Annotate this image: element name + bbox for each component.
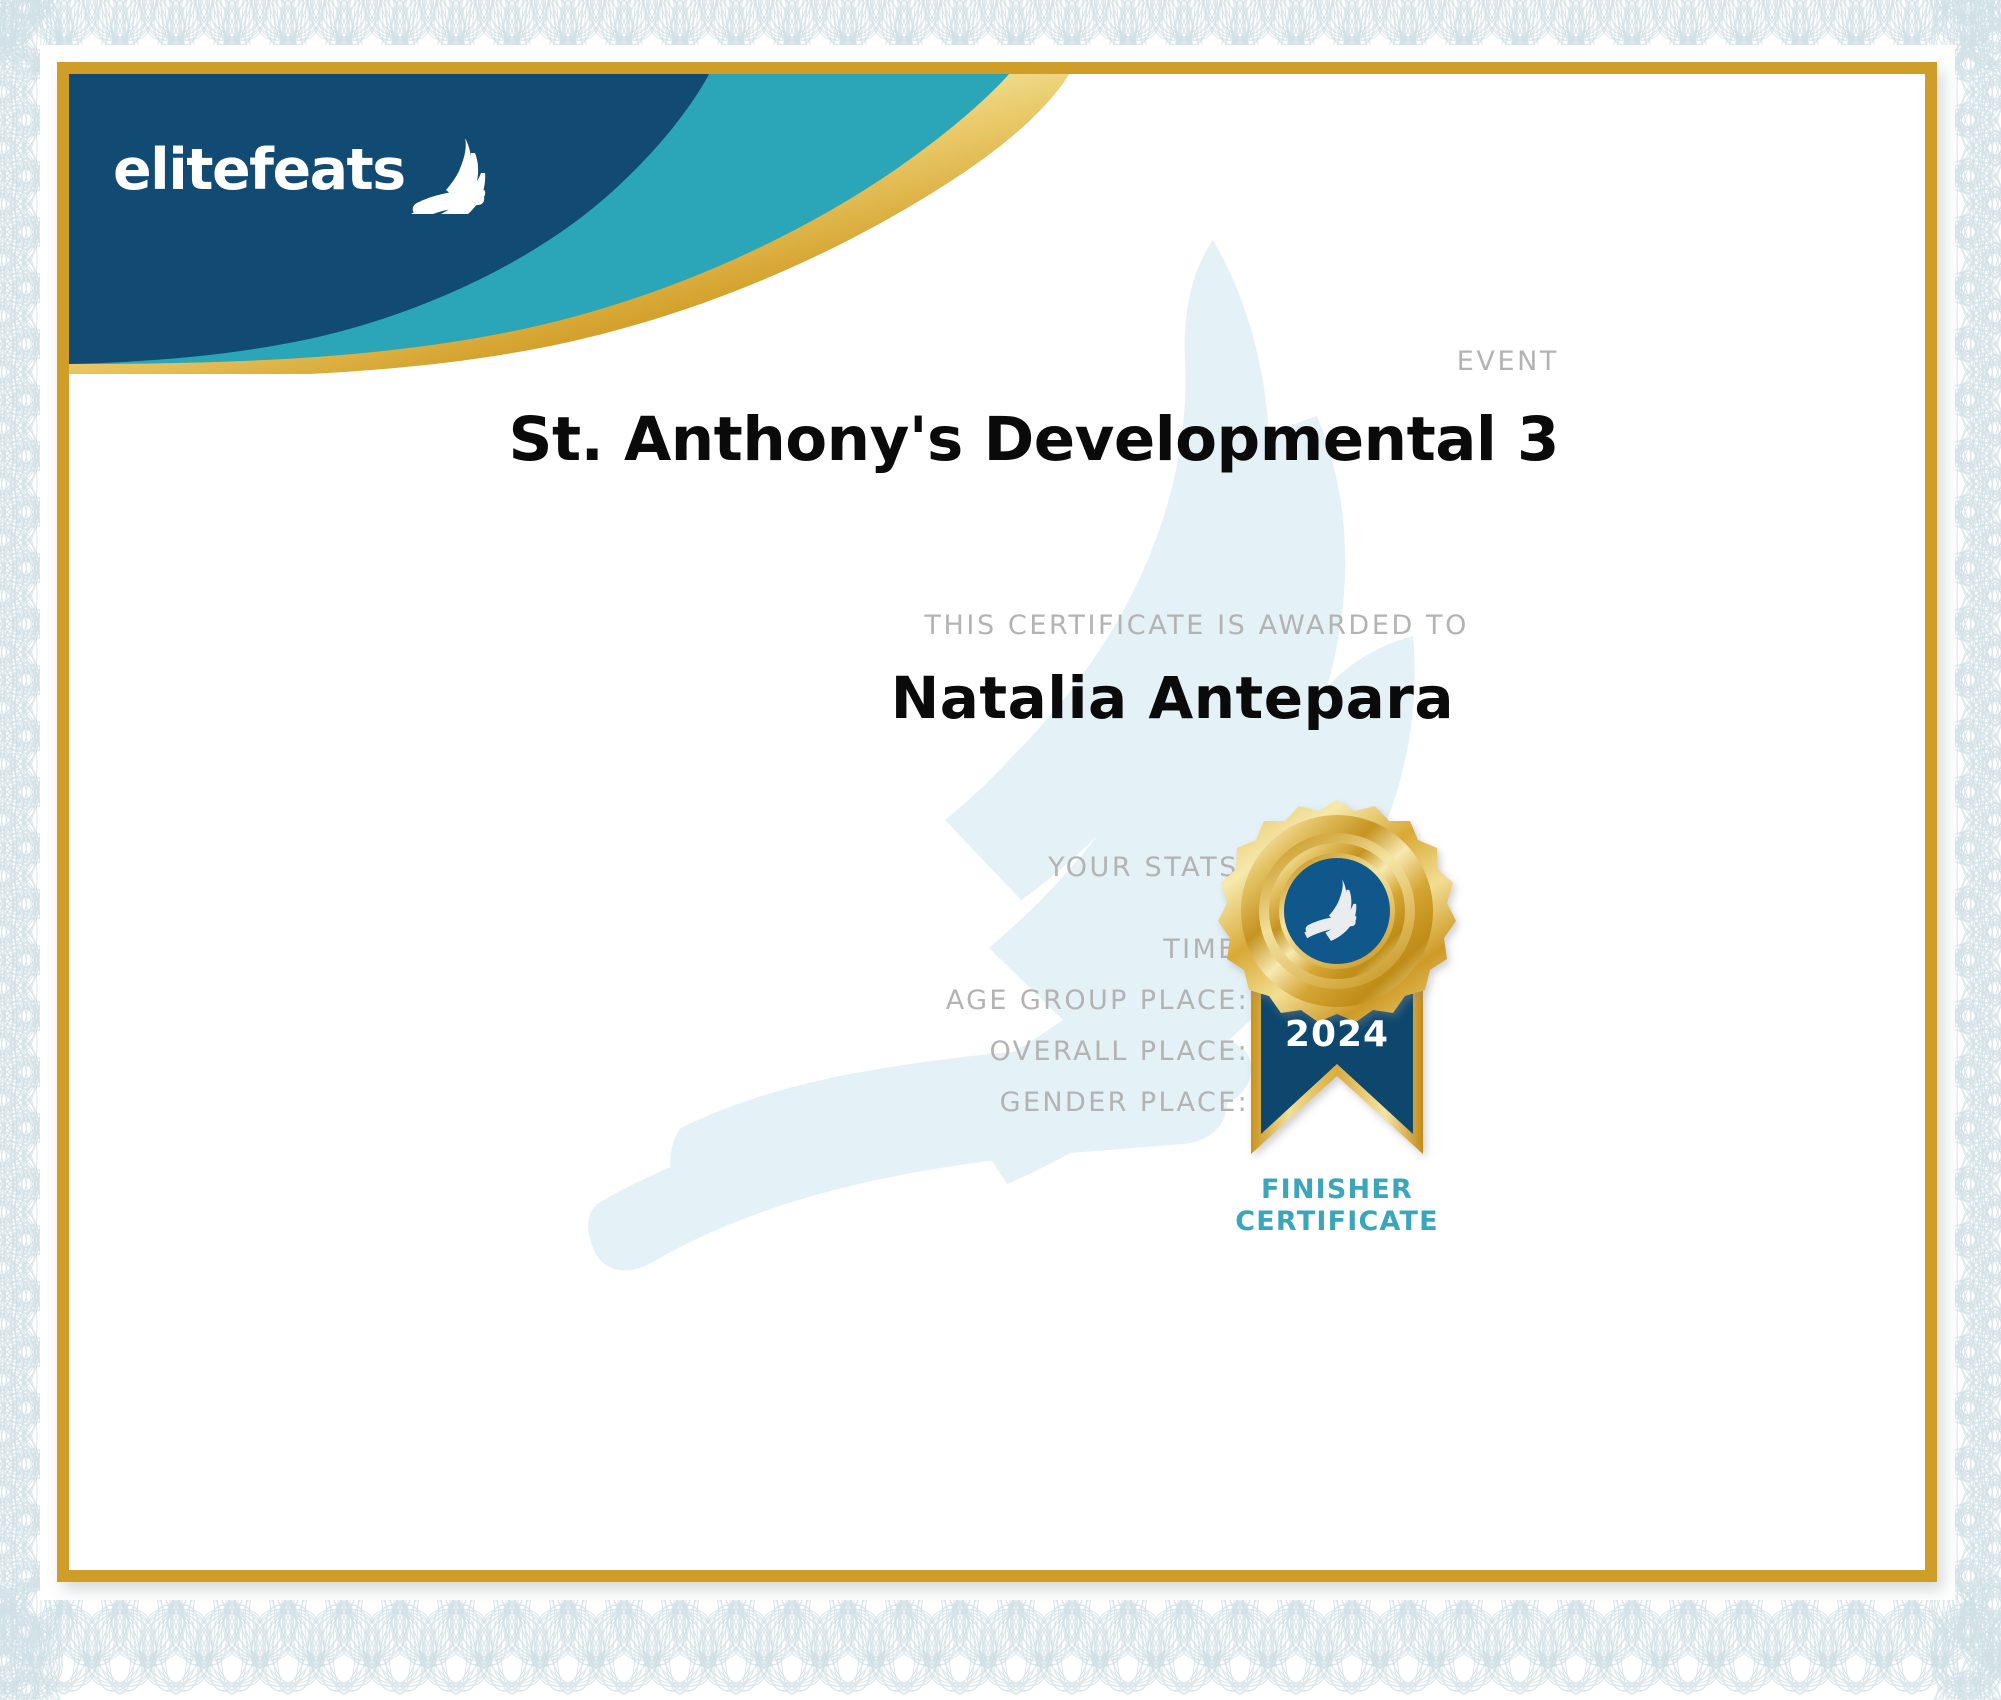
stat-row-overall-place: OVERALL PLACE:Inc — [69, 1038, 1299, 1065]
recipient-name: Natalia Antepara — [69, 664, 1454, 732]
event-title: St. Anthony's Developmental 3 — [69, 404, 1559, 475]
elitefeats-logo[interactable]: elitefeats — [113, 126, 489, 214]
certificate-card: elitefeats EVENT St. Anthony's Developme… — [57, 62, 1937, 1582]
stat-row-age-group-place: AGE GROUP PLACE:Inc — [69, 987, 1299, 1014]
finisher-medal-badge: 2024 — [1207, 794, 1467, 1214]
winged-foot-icon — [409, 136, 489, 214]
stats-list: TIME:Inc AGE GROUP PLACE:Inc OVERALL PLA… — [69, 936, 1299, 1140]
stat-row-gender-place: GENDER PLACE:Inc — [69, 1089, 1299, 1116]
badge-caption: FINISHER CERTIFICATE — [1197, 1174, 1477, 1238]
stat-row-time: TIME:Inc — [69, 936, 1299, 963]
event-label: EVENT — [69, 346, 1559, 377]
awarded-to-label: THIS CERTIFICATE IS AWARDED TO — [69, 610, 1469, 641]
badge-year: 2024 — [1285, 1014, 1389, 1055]
brand-wordmark: elitefeats — [113, 137, 405, 203]
badge-caption-line2: CERTIFICATE — [1197, 1206, 1477, 1238]
stat-key: AGE GROUP PLACE: — [946, 985, 1249, 1016]
badge-caption-line1: FINISHER — [1197, 1174, 1477, 1206]
your-stats-label: YOUR STATS — [69, 852, 1239, 883]
